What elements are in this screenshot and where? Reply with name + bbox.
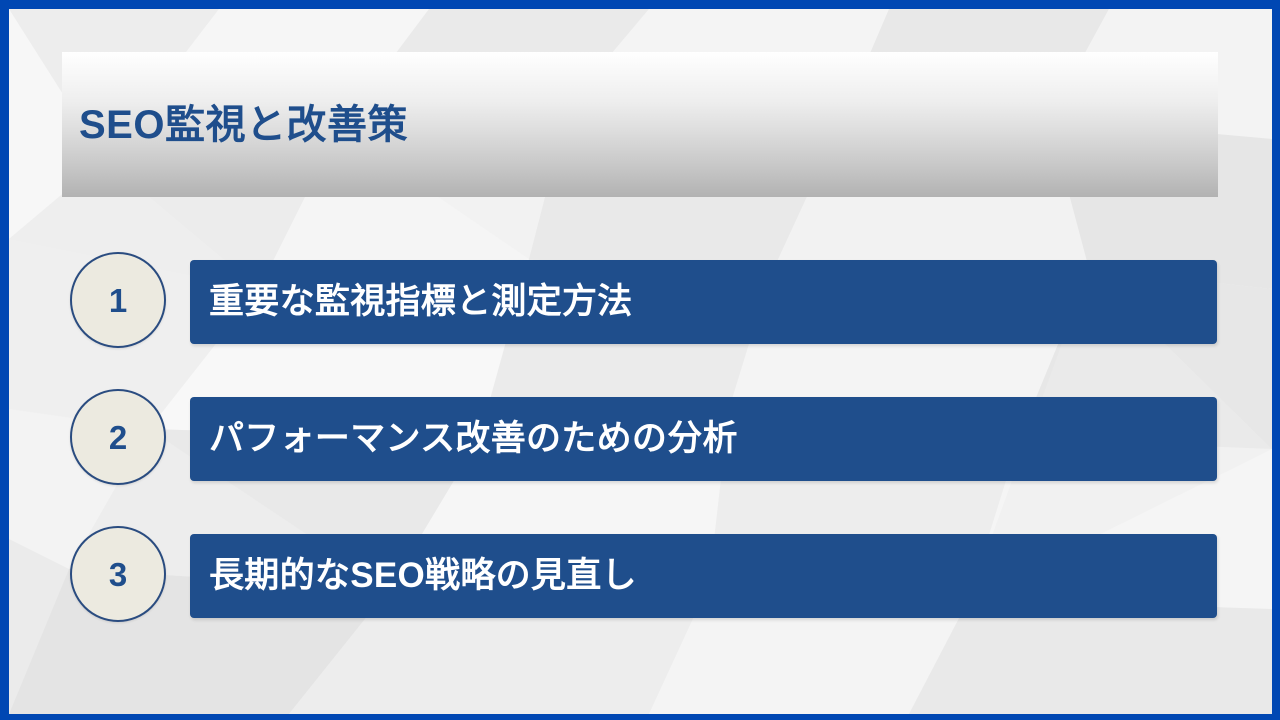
step-number-label: 3 xyxy=(109,558,127,591)
page-title: SEO監視と改善策 xyxy=(79,103,408,147)
step-number-badge: 1 xyxy=(70,252,166,348)
agenda-item-label: 重要な監視指標と測定方法 xyxy=(209,283,633,322)
agenda-item-bar[interactable]: パフォーマンス改善のための分析 xyxy=(190,397,1217,481)
step-number-badge: 3 xyxy=(70,526,166,622)
agenda-item-bar[interactable]: 重要な監視指標と測定方法 xyxy=(190,260,1217,344)
agenda-item-bar[interactable]: 長期的なSEO戦略の見直し xyxy=(190,534,1217,618)
presentation-slide: SEO監視と改善策 1 重要な監視指標と測定方法 2 パフォーマンス改善のための… xyxy=(0,0,1280,720)
agenda-item-row: 2 パフォーマンス改善のための分析 xyxy=(9,389,1272,489)
agenda-item-row: 1 重要な監視指標と測定方法 xyxy=(9,252,1272,352)
slide-content-area: SEO監視と改善策 1 重要な監視指標と測定方法 2 パフォーマンス改善のための… xyxy=(9,9,1272,714)
agenda-item-label: パフォーマンス改善のための分析 xyxy=(209,420,738,459)
slide-title-bar: SEO監視と改善策 xyxy=(62,52,1218,197)
agenda-item-row: 3 長期的なSEO戦略の見直し xyxy=(9,526,1272,626)
step-number-label: 2 xyxy=(109,421,127,454)
step-number-badge: 2 xyxy=(70,389,166,485)
agenda-item-label: 長期的なSEO戦略の見直し xyxy=(209,557,637,596)
step-number-label: 1 xyxy=(109,284,127,317)
